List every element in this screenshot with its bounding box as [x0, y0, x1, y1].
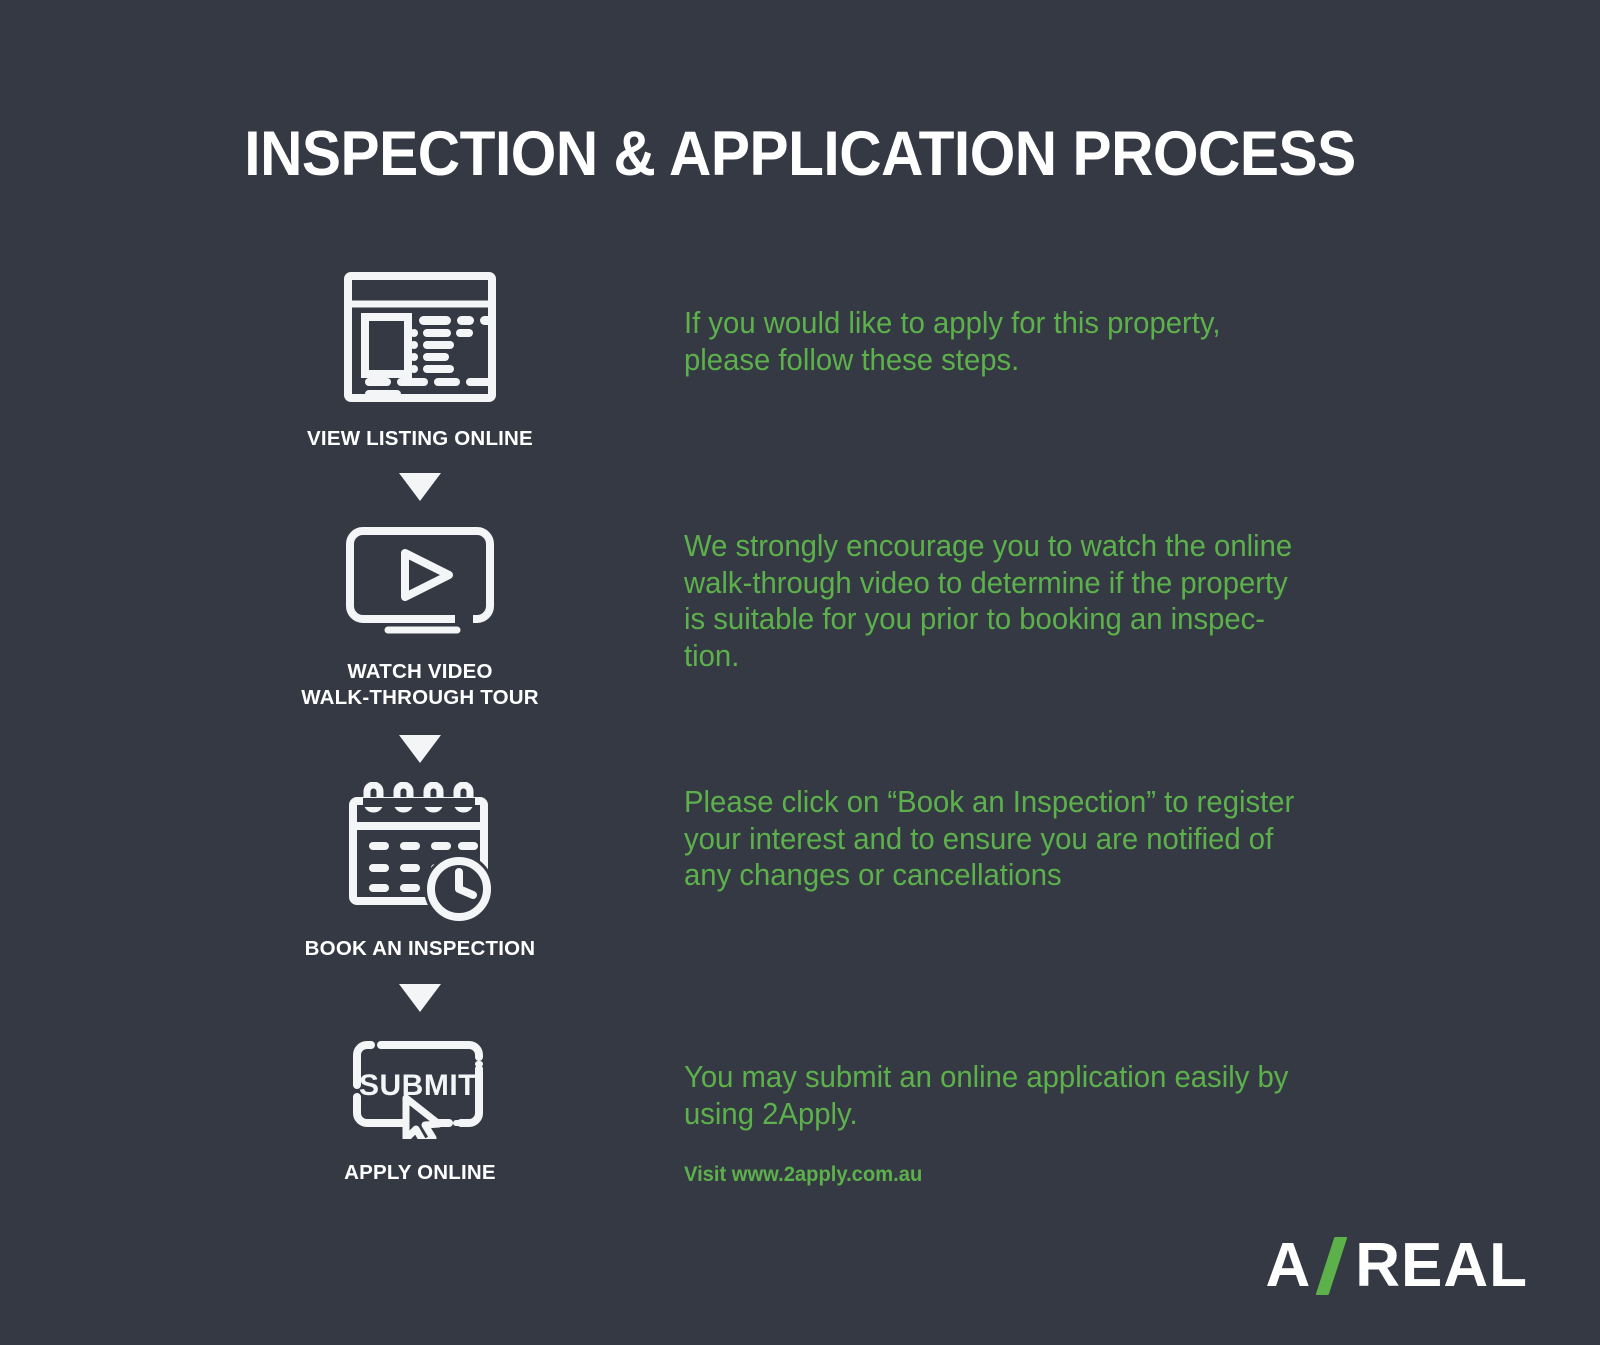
- arrow-down-icon: [270, 735, 570, 763]
- step-label: BOOK AN INSPECTION: [270, 936, 570, 962]
- page-title: INSPECTION & APPLICATION PROCESS: [56, 118, 1544, 190]
- logo-word-real: REAL: [1355, 1235, 1528, 1297]
- calendar-clock-icon: [270, 779, 570, 924]
- step-label: APPLY ONLINE: [270, 1160, 570, 1186]
- arrow-down-icon: [270, 984, 570, 1012]
- video-play-monitor-icon: [270, 523, 570, 643]
- submit-button-cursor-icon: SUBMIT: [270, 1034, 570, 1144]
- arrow-down-icon: [270, 473, 570, 501]
- browser-listing-icon: [270, 262, 570, 412]
- process-steps-column: VIEW LISTING ONLINE WATCH VIDEO WALK-THR…: [270, 262, 570, 1186]
- logo-slash-icon: [1317, 1237, 1353, 1295]
- infographic-page: INSPECTION & APPLICATION PROCESS: [0, 0, 1600, 1345]
- logo-a-real: A REAL: [1265, 1235, 1528, 1297]
- step-label: VIEW LISTING ONLINE: [270, 426, 570, 452]
- step-book-an-inspection: BOOK AN INSPECTION: [270, 779, 570, 962]
- copy-paragraph-view-listing: If you would like to apply for this prop…: [684, 305, 1221, 378]
- copy-paragraph-book-inspection: Please click on “Book an Inspection” to …: [684, 784, 1294, 894]
- copy-paragraph-watch-video: We strongly encourage you to watch the o…: [684, 528, 1292, 674]
- step-label: WATCH VIDEO WALK-THROUGH TOUR: [270, 659, 570, 711]
- copy-paragraph-apply-online: You may submit an online application eas…: [684, 1059, 1288, 1132]
- visit-url-text[interactable]: Visit www.2apply.com.au: [684, 1161, 922, 1189]
- svg-text:SUBMIT: SUBMIT: [359, 1069, 477, 1102]
- step-watch-video-walkthrough: WATCH VIDEO WALK-THROUGH TOUR: [270, 523, 570, 711]
- step-view-listing-online: VIEW LISTING ONLINE: [270, 262, 570, 452]
- logo-letter-a: A: [1265, 1235, 1311, 1297]
- step-apply-online: SUBMIT APPLY ONLINE: [270, 1034, 570, 1186]
